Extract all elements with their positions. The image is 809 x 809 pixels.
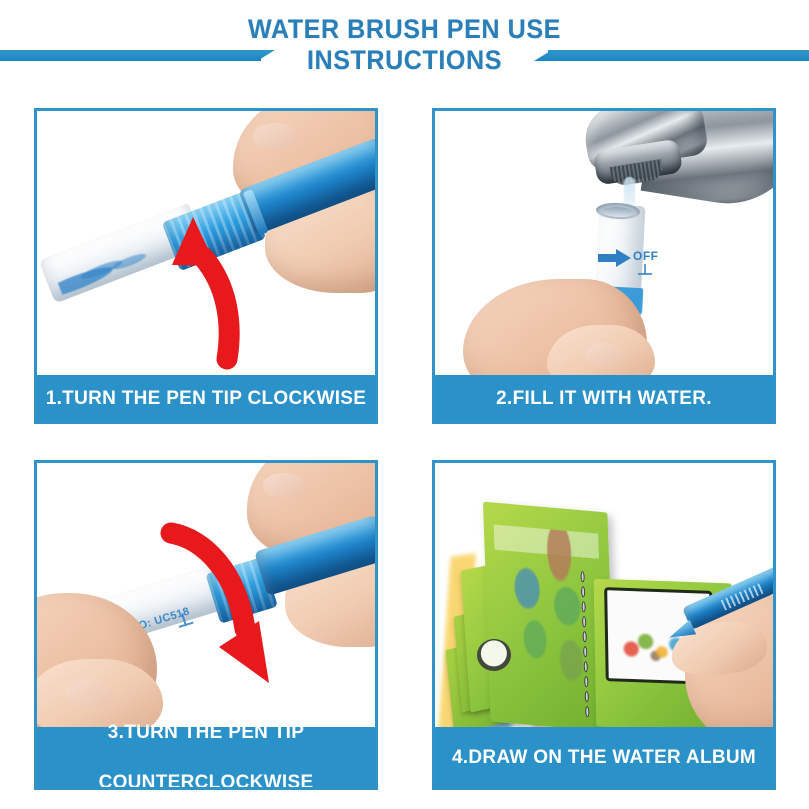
pen-off-arrow-icon [598,249,632,267]
thumbnail [585,343,623,367]
rotation-arrow-counterclockwise-icon [153,517,293,707]
rotation-arrow-clockwise-icon [115,173,265,373]
step-3-caption: 3.TURN THE PEN TIP COUNTERCLOCKWISE [37,727,375,787]
fingernail-upper [253,123,297,149]
step-3-caption-line-1: 3.TURN THE PEN TIP [43,720,369,745]
step-1-photo [37,111,375,375]
step-panel-2: OFF 2.FILL IT WITH WATER. [432,108,776,424]
thumbnail-left [65,679,113,709]
fingernail-upper [263,473,305,497]
page-title-line-2: INSTRUCTIONS [28,45,780,76]
page-title-line-1: WATER BRUSH PEN USE [28,14,780,45]
pen-off-label: OFF [633,249,659,263]
page-title: WATER BRUSH PEN USE INSTRUCTIONS [0,14,809,76]
step-1-caption-line-1: 1.TURN THE PEN TIP CLOCKWISE [43,386,369,411]
step-3-caption-line-2: COUNTERCLOCKWISE [43,770,369,791]
step-1-caption: 1.TURN THE PEN TIP CLOCKWISE [37,375,375,421]
step-panel-1: 1.TURN THE PEN TIP CLOCKWISE [34,108,378,424]
page-header: WATER BRUSH PEN USE INSTRUCTIONS [0,0,809,100]
pen-cjk-mark [638,264,652,275]
step-2-caption: 2.FILL IT WITH WATER. [435,375,773,421]
step-4-caption-line-1: 4.DRAW ON THE WATER ALBUM [441,745,767,770]
step-2-photo: OFF [435,111,773,375]
step-3-photo: NO: UC518 [37,463,375,727]
step-panel-3: NO: UC518 3.TURN THE PEN TIP COUNTERCLOC… [34,460,378,790]
step-4-caption: 4.DRAW ON THE WATER ALBUM [435,727,773,787]
step-panel-4: 4.DRAW ON THE WATER ALBUM [432,460,776,790]
step-2-caption-line-1: 2.FILL IT WITH WATER. [441,386,767,411]
step-4-photo [435,463,773,727]
